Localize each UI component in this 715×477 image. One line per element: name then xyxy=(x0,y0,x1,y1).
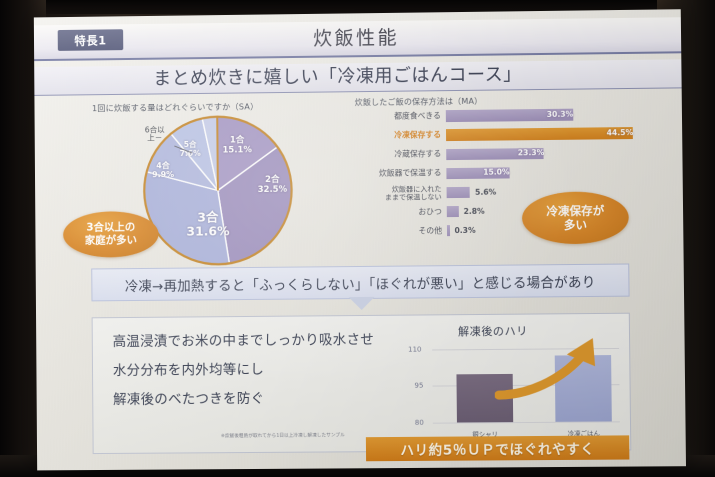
pie-label-2go: 2合 32.5% xyxy=(258,176,288,195)
hari-comparison-chart: 解凍後のハリ 110 95 80 銀シャリ 冷凍ごはん xyxy=(402,320,624,442)
bar-track: 44.5% xyxy=(446,125,656,144)
bar-label: 冷凍保存する xyxy=(355,131,446,140)
pie-question-label: 1回に炊飯する量はどれぐらいですか（SA） xyxy=(92,100,259,114)
pie-label-4go: 4合 9.9% xyxy=(152,162,174,180)
bar-value-label: 23.3% xyxy=(518,148,545,157)
bar-fill xyxy=(446,127,633,142)
ytick-110: 110 xyxy=(408,346,421,354)
result-banner: ハリ約5％ＵＰでほぐれやすく xyxy=(366,435,630,461)
pie-label-3go: 3合 31.6% xyxy=(186,210,229,238)
bar-track: 23.3% xyxy=(446,144,656,163)
ytick-80: 80 xyxy=(415,419,424,427)
bar-fill xyxy=(447,225,450,236)
bar-track: 15.0% xyxy=(446,163,656,182)
bar-value-label: 2.8% xyxy=(463,206,484,215)
bar-track: 30.3% xyxy=(446,106,656,125)
bar-row: 冷凍保存する44.5% xyxy=(355,125,656,145)
callout-right-line1: 冷凍保存が xyxy=(546,204,604,219)
ytick-95: 95 xyxy=(414,382,423,390)
solution-text-lines: 高温浸漬でお米の中までしっかり吸水させ 水分分布を内外均等にし 解凍後のべたつき… xyxy=(113,332,395,422)
pie-label-1go: 1合 15.1% xyxy=(222,136,252,155)
bar-value-label: 5.6% xyxy=(475,187,496,196)
callout-left-line1: 3合以上の xyxy=(86,221,135,234)
bar-row: 炊飯器で保温する15.0% xyxy=(355,163,656,183)
down-arrow-icon xyxy=(349,297,375,310)
bar-question-label: 炊飯したご飯の保存方法は（MA） xyxy=(355,96,483,108)
bar-label: 都度食べきる xyxy=(355,112,446,121)
bar-label: おひつ xyxy=(356,208,447,217)
result-banner-text: ハリ約5％ＵＰでほぐれやすく xyxy=(400,438,594,459)
panel-footnote: ※炊飯後粗熱が取れてから1日以上冷凍し解凍したサンプル xyxy=(221,432,345,439)
pie-label-6go-plus: 6合以 上－ xyxy=(145,126,165,143)
notice-text: 冷凍→再加熱すると「ふっくらしない」「ほぐれが悪い」と感じる場合があり xyxy=(125,270,596,294)
bar-row: 都度食べきる30.3% xyxy=(355,106,656,126)
bar-label: その他 xyxy=(356,227,447,236)
projected-slide-photo: 特長1 炊飯性能 まとめ炊きに嬉しい「冷凍用ごはんコース」 1回に炊飯する量はど… xyxy=(0,0,715,477)
up-arrow-icon xyxy=(494,336,611,403)
solution-line-3: 解凍後のべたつきを防ぐ xyxy=(113,390,395,408)
solution-panel: 高温浸漬でお米の中までしっかり吸水させ 水分分布を内外均等にし 解凍後のべたつき… xyxy=(92,313,632,454)
solution-line-2: 水分分布を内外均等にし xyxy=(113,361,394,379)
bar-label: 冷蔵保存する xyxy=(355,150,446,159)
bar-fill xyxy=(447,187,471,199)
bar-value-label: 15.0% xyxy=(483,168,510,177)
callout-left-line2: 家庭が多い xyxy=(85,234,137,247)
bar-row: 冷蔵保存する23.3% xyxy=(355,144,656,164)
notice-strip: 冷凍→再加熱すると「ふっくらしない」「ほぐれが悪い」と感じる場合があり xyxy=(91,263,629,301)
bar-value-label: 0.3% xyxy=(454,226,475,235)
slide-subtitle: まとめ炊きに嬉しい「冷凍用ごはんコース」 xyxy=(153,61,522,93)
presentation-slide: 特長1 炊飯性能 まとめ炊きに嬉しい「冷凍用ごはんコース」 1回に炊飯する量はど… xyxy=(34,9,686,470)
bar-label: 炊飯器で保温する xyxy=(355,170,446,179)
bar-fill xyxy=(447,206,459,218)
bar-value-label: 44.5% xyxy=(607,128,634,137)
bar-value-label: 30.3% xyxy=(547,110,574,119)
solution-line-1: 高温浸漬でお米の中までしっかり吸水させ xyxy=(113,332,394,351)
callout-right-line2: 多い xyxy=(564,218,587,232)
bar-label: 炊飯器に入れたままで保温しない xyxy=(355,185,446,201)
